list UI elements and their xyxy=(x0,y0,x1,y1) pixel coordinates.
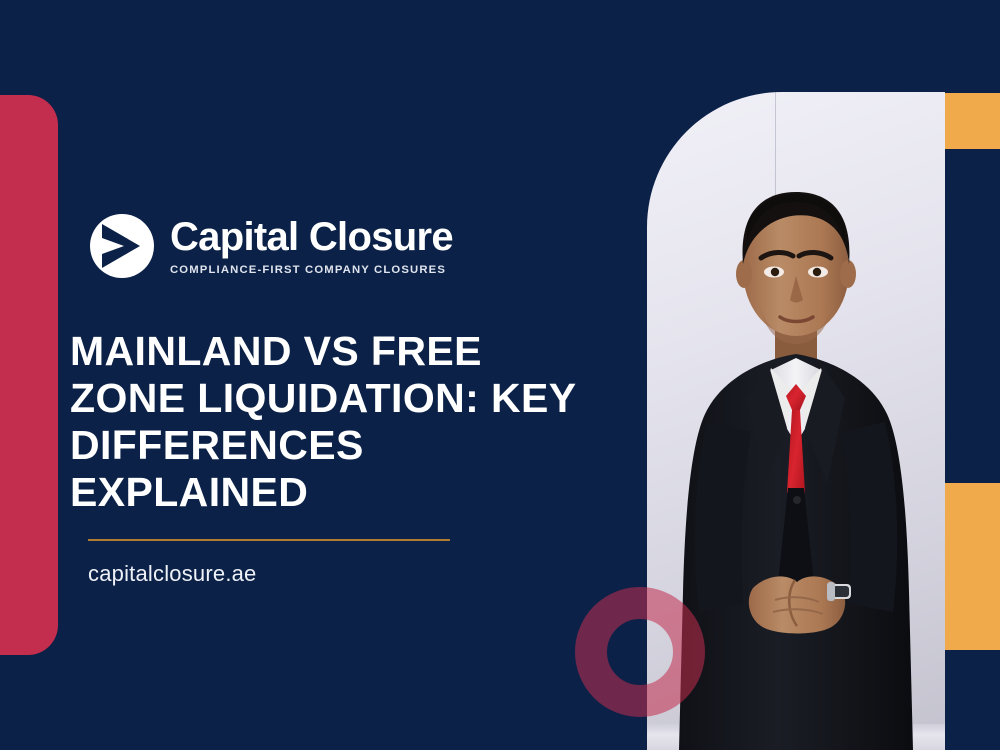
title-divider xyxy=(88,539,450,541)
logo-tagline: COMPLIANCE-FIRST COMPANY CLOSURES xyxy=(170,265,453,276)
bottom-right-gold-block xyxy=(945,483,1000,650)
top-right-gold-block xyxy=(945,93,1000,149)
website-url: capitalclosure.ae xyxy=(88,561,257,587)
logo-text-block: Capital Closure COMPLIANCE-FIRST COMPANY… xyxy=(170,215,453,276)
blog-banner: Capital Closure COMPLIANCE-FIRST COMPANY… xyxy=(0,0,1000,750)
chevron-circle-logo-icon xyxy=(88,212,156,280)
content-column: Capital Closure COMPLIANCE-FIRST COMPANY… xyxy=(70,0,630,750)
left-accent-bar xyxy=(0,95,58,655)
logo-wordmark: Capital Closure xyxy=(170,217,453,257)
brand-logo: Capital Closure COMPLIANCE-FIRST COMPANY… xyxy=(88,212,453,280)
page-title: MAINLAND VS FREE ZONE LIQUIDATION: KEY D… xyxy=(70,328,590,516)
